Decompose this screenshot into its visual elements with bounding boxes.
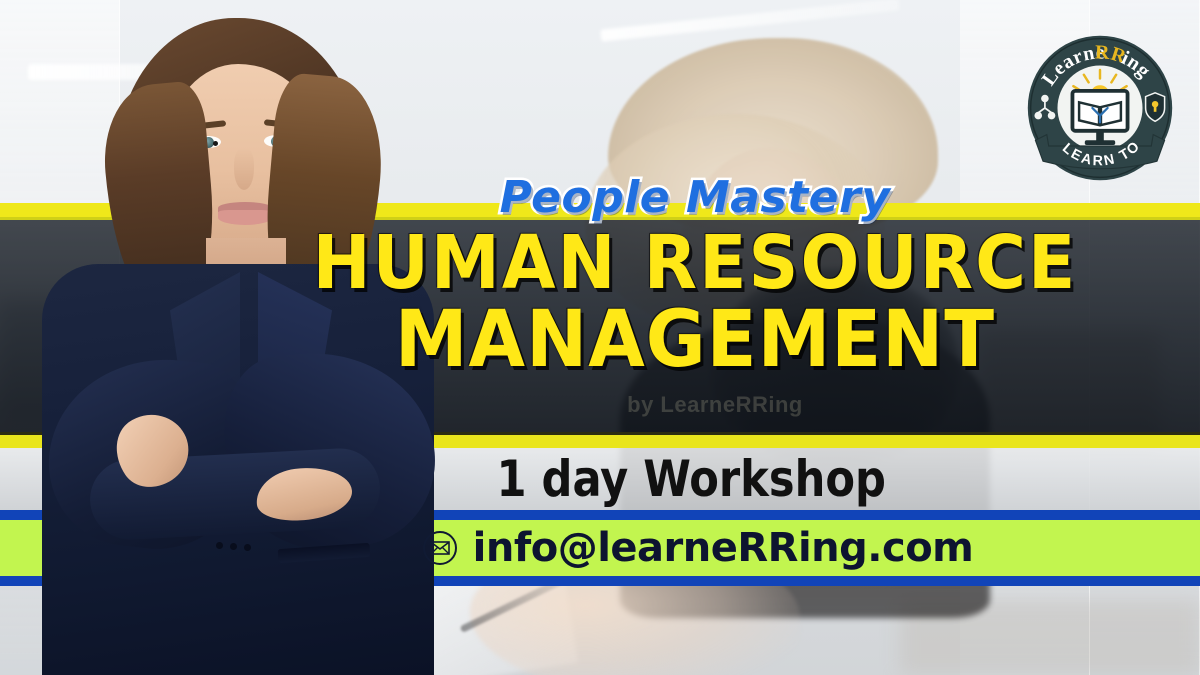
- brand-logo-badge[interactable]: Learne RR ing LEARN TO LEAD: [1024, 32, 1176, 184]
- kicker-people-mastery: People Mastery: [0, 172, 1200, 223]
- main-title: HUMAN RESOURCE MANAGEMENT: [0, 228, 1200, 378]
- contact-email-text: info@learneRRing.com: [473, 525, 974, 571]
- title-line-1: HUMAN RESOURCE: [170, 228, 1200, 299]
- title-line-2: MANAGEMENT: [170, 303, 1200, 378]
- banner-content: People Mastery HUMAN RESOURCE MANAGEMENT…: [0, 0, 1200, 675]
- contact-email-row[interactable]: info@learneRRing.com: [0, 522, 1200, 574]
- promo-banner: People Mastery HUMAN RESOURCE MANAGEMENT…: [0, 0, 1200, 675]
- byline-credit: by LearneRRing: [0, 392, 1200, 418]
- workshop-duration-label: 1 day Workshop: [24, 450, 1176, 508]
- envelope-icon: [423, 531, 457, 565]
